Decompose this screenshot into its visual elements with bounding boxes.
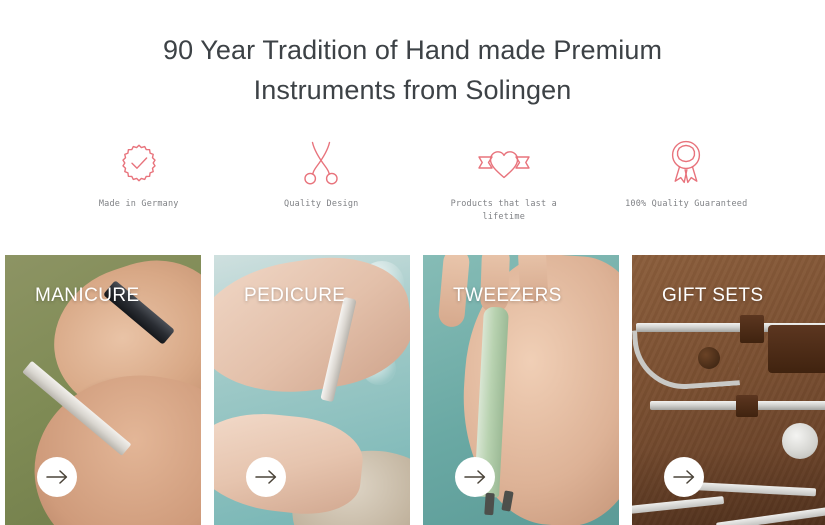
card-title: GIFT SETS [662, 285, 763, 307]
landing-page: 90 Year Tradition of Hand made Premium I… [0, 0, 825, 525]
arrow-right-icon[interactable] [246, 457, 286, 497]
feature-quality-guaranteed: 100% Quality Guaranteed [595, 137, 778, 224]
card-title: PEDICURE [244, 285, 345, 307]
verified-badge-icon [117, 137, 161, 189]
arrow-right-icon[interactable] [37, 457, 77, 497]
features-row: Made in Germany Quality Design [28, 137, 798, 224]
feature-quality-design: Quality Design [230, 137, 413, 224]
card-title: TWEEZERS [453, 285, 562, 307]
card-title: MANICURE [35, 285, 140, 307]
arrow-right-icon[interactable] [455, 457, 495, 497]
category-card-tweezers[interactable]: TWEEZERS [423, 255, 619, 525]
feature-label: 100% Quality Guaranteed [625, 198, 747, 211]
category-card-pedicure[interactable]: PEDICURE [214, 255, 410, 525]
feature-made-in-germany: Made in Germany [48, 137, 231, 224]
headline-line-1: 90 Year Tradition of Hand made Premium [0, 30, 825, 70]
category-cards: MANICURE PEDICURE [5, 255, 820, 525]
category-card-manicure[interactable]: MANICURE [5, 255, 201, 525]
heart-ribbon-icon [476, 137, 532, 189]
feature-label: Made in Germany [99, 198, 179, 211]
feature-lifetime-products: Products that last a lifetime [413, 137, 596, 224]
feature-label: Quality Design [284, 198, 358, 211]
scissors-icon [301, 137, 341, 189]
headline-line-2: Instruments from Solingen [0, 70, 825, 110]
feature-label: Products that last a lifetime [436, 198, 571, 224]
category-card-gift-sets[interactable]: GIFT SETS [632, 255, 825, 525]
award-rosette-icon [664, 137, 708, 189]
page-headline: 90 Year Tradition of Hand made Premium I… [0, 0, 825, 110]
arrow-right-icon[interactable] [664, 457, 704, 497]
